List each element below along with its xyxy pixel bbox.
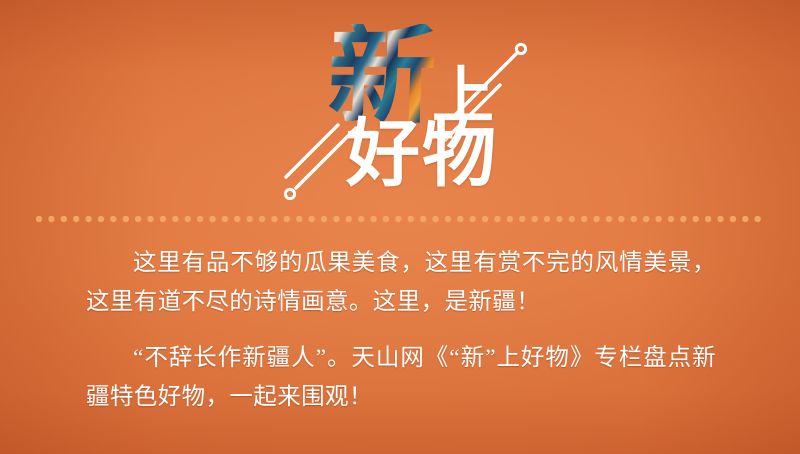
dotted-divider <box>36 216 766 224</box>
title-char-hao: 好 <box>346 118 420 192</box>
body-paragraph-2: “不辞长作新疆人”。天山网《“新”上好物》专栏盘点新疆特色好物，一起来围观！ <box>86 339 716 417</box>
hero-title-block: 新 上 好 物 <box>0 0 800 200</box>
title-char-wu: 物 <box>422 118 496 192</box>
title-characters: 新 上 好 物 <box>250 14 550 194</box>
body-copy: 这里有品不够的瓜果美食，这里有赏不完的风情美景，这里有道不尽的诗情画意。这里，是… <box>86 244 716 417</box>
promo-poster: 新 上 好 物 这里有品不够的瓜果美食，这里有赏不完的风情美景，这里有道不尽的诗… <box>0 0 800 454</box>
body-paragraph-1: 这里有品不够的瓜果美食，这里有赏不完的风情美景，这里有道不尽的诗情画意。这里，是… <box>86 244 716 322</box>
